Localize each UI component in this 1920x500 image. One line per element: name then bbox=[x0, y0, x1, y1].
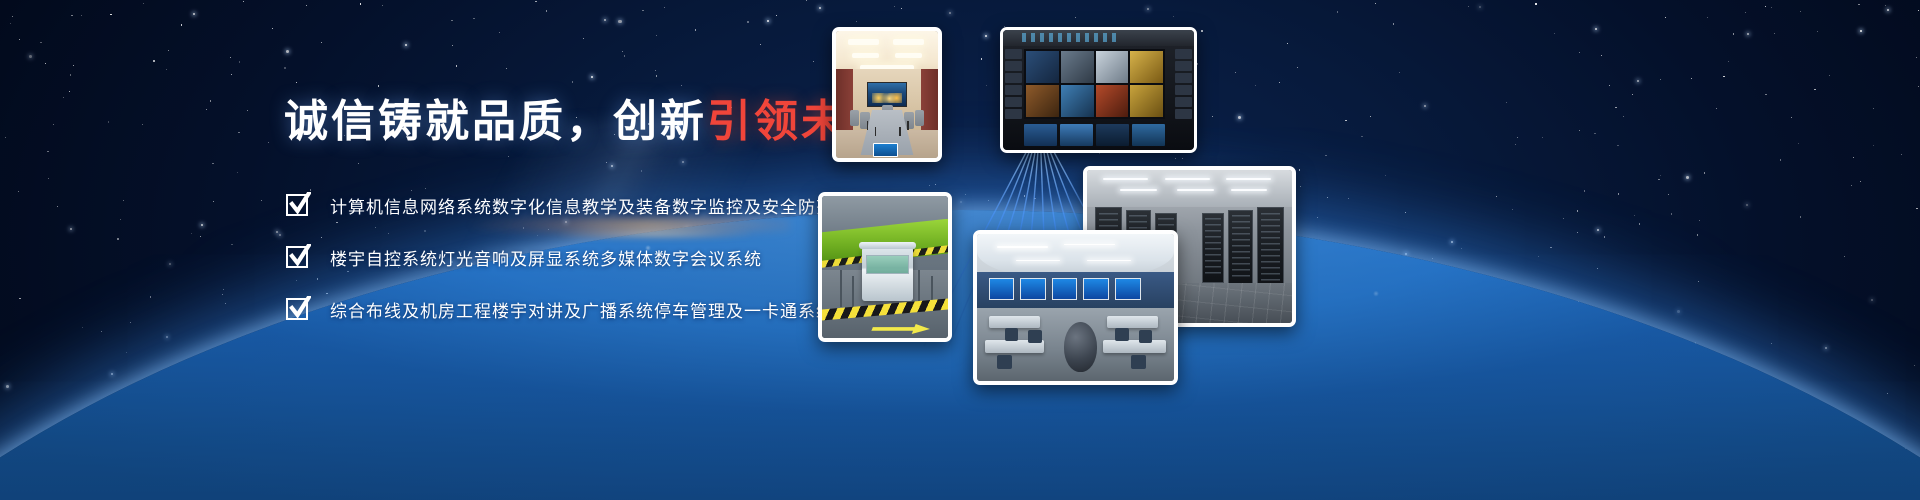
parking-gate-photo bbox=[818, 192, 952, 342]
checkbox-checked-icon bbox=[286, 298, 308, 320]
checklist-row-item-1: 计算机信息网络系统 bbox=[330, 193, 492, 218]
checklist-row-item-2: 灯光音响及屏显系统 bbox=[438, 245, 600, 270]
checklist-row-item-2: 数字化信息教学及装备 bbox=[492, 193, 672, 218]
checklist-row-item-1: 楼宇自控系统 bbox=[330, 245, 438, 270]
classroom-lab-photo bbox=[973, 230, 1178, 385]
checkbox-checked-icon bbox=[286, 246, 308, 268]
hero-banner: 诚信铸就品质，创新引领未来 计算机信息网络系统 数字化信息教学及装备 数字监控及… bbox=[0, 0, 1920, 500]
checklist-row: 综合布线及机房工程 楼宇对讲及广播系统 停车管理及一卡通系统 bbox=[286, 296, 870, 322]
checklist-row-item-3: 多媒体数字会议系统 bbox=[600, 245, 762, 270]
checklist-row-item-1: 综合布线及机房工程 bbox=[330, 297, 492, 322]
service-checklist: 计算机信息网络系统 数字化信息教学及装备 数字监控及安全防范系统 楼宇自控系统 … bbox=[286, 192, 870, 322]
checkbox-checked-icon bbox=[286, 194, 308, 216]
banner-headline: 诚信铸就品质，创新引领未来 bbox=[284, 98, 895, 146]
checklist-row-item-3: 停车管理及一卡通系统 bbox=[654, 297, 834, 322]
video-wall-photo bbox=[1000, 27, 1197, 153]
checklist-row: 计算机信息网络系统 数字化信息教学及装备 数字监控及安全防范系统 bbox=[286, 192, 870, 218]
conference-room-photo bbox=[832, 27, 942, 162]
headline-white-text: 诚信铸就品质，创新 bbox=[284, 97, 707, 146]
checklist-row: 楼宇自控系统 灯光音响及屏显系统 多媒体数字会议系统 bbox=[286, 244, 870, 270]
checklist-row-item-2: 楼宇对讲及广播系统 bbox=[492, 297, 654, 322]
photo-collage bbox=[810, 0, 1920, 500]
